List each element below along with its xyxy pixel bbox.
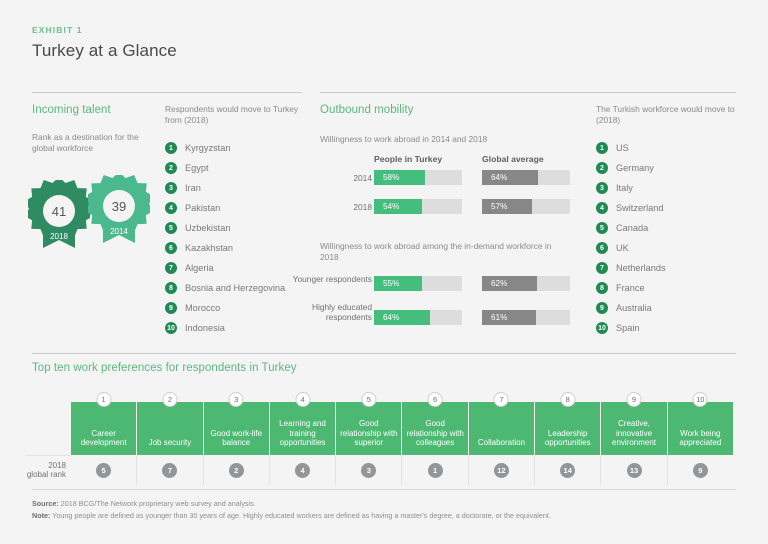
list-item: 2Egypt xyxy=(165,158,285,178)
badge-year: 2018 xyxy=(28,232,90,241)
country-name: Germany xyxy=(616,163,654,173)
list-item: 9Morocco xyxy=(165,298,285,318)
country-name: Indonesia xyxy=(185,323,225,333)
bar-row-label: 2018 xyxy=(302,202,372,212)
bar-value-label: 62% xyxy=(491,279,507,288)
rank-badge: 8 xyxy=(596,282,608,294)
preference-label: Career development xyxy=(71,429,136,455)
preference-cell: 4Learning and training opportunities xyxy=(270,402,336,455)
rank-badge: 9 xyxy=(596,302,608,314)
list-item: 5Uzbekistan xyxy=(165,218,285,238)
preference-rank-circle: 3 xyxy=(229,392,244,407)
bar-track-turkey: 54% xyxy=(374,199,462,214)
bar-track-global: 57% xyxy=(482,199,570,214)
preferences-band: 1Career development 2Job security 3Good … xyxy=(71,402,733,455)
rank-badge: 6 xyxy=(596,242,608,254)
bar-track-global: 61% xyxy=(482,310,570,325)
preference-rank-circle: 4 xyxy=(295,392,310,407)
bar-row-2014: 2014 58% 64% xyxy=(300,170,570,185)
bar-track-global: 64% xyxy=(482,170,570,185)
preference-rank-circle: 2 xyxy=(162,392,177,407)
rank-badge: 3 xyxy=(596,182,608,194)
global-rank-circle: 7 xyxy=(162,463,177,478)
bar-track-turkey: 55% xyxy=(374,276,462,291)
respondents-to-turkey-list: 1Kyrgyzstan 2Egypt 3Iran 4Pakistan 5Uzbe… xyxy=(165,138,285,338)
rank-badge: 2 xyxy=(596,162,608,174)
bar-row-younger-respondents: Younger respondents 55% 62% xyxy=(300,276,570,291)
bar-row-label: Younger respondents xyxy=(288,274,372,284)
preference-cell: 3Good work-life balance xyxy=(204,402,270,455)
respondents-to-turkey-heading: Respondents would move to Turkey from (2… xyxy=(165,104,305,126)
global-rank-circle: 2 xyxy=(229,463,244,478)
country-name: Kazakhstan xyxy=(185,243,233,253)
badge-rank-value: 41 xyxy=(43,195,75,227)
rank-badge: 7 xyxy=(596,262,608,274)
global-rank-circle: 14 xyxy=(560,463,575,478)
list-item: 6UK xyxy=(596,238,666,258)
country-name: Uzbekistan xyxy=(185,223,230,233)
incoming-talent-subheading: Rank as a destination for the global wor… xyxy=(32,132,142,154)
bar-value-label: 54% xyxy=(383,202,399,211)
preference-rank-circle: 8 xyxy=(560,392,575,407)
outbound-chart2-subheading: Willingness to work abroad among the in-… xyxy=(320,241,570,263)
rank-badge: 5 xyxy=(165,222,177,234)
global-rank-cell: 9 xyxy=(668,455,733,485)
country-name: Bosnia and Herzegovina xyxy=(185,283,285,293)
country-name: Switzerland xyxy=(616,203,664,213)
global-rank-circle: 13 xyxy=(627,463,642,478)
country-name: Kyrgyzstan xyxy=(185,143,230,153)
country-name: Pakistan xyxy=(185,203,220,213)
rank-badge: 10 xyxy=(165,322,177,334)
preference-cell: 8Leadership opportunities xyxy=(535,402,601,455)
global-rank-cell: 2 xyxy=(204,455,270,485)
preference-label: Good relationship with colleagues xyxy=(402,419,467,455)
preference-label: Collaboration xyxy=(475,438,528,455)
preference-cell: 10Work being appreciated xyxy=(668,402,733,455)
list-item: 1Kyrgyzstan xyxy=(165,138,285,158)
bar-fill-global: 62% xyxy=(482,276,537,291)
global-rank-circle: 3 xyxy=(361,463,376,478)
global-rank-cell: 5 xyxy=(71,455,137,485)
exhibit-page: EXHIBIT 1 Turkey at a Glance Incoming ta… xyxy=(0,0,768,544)
preference-rank-circle: 5 xyxy=(361,392,376,407)
preference-label: Good relationship with superior xyxy=(336,419,401,455)
list-item: 6Kazakhstan xyxy=(165,238,285,258)
preference-cell: 6Good relationship with colleagues xyxy=(402,402,468,455)
bar-column-header-global: Global average xyxy=(482,154,544,164)
preference-rank-circle: 6 xyxy=(428,392,443,407)
badge-year: 2014 xyxy=(88,227,150,236)
bar-row-2018: 2018 54% 57% xyxy=(300,199,570,214)
bar-fill-turkey: 55% xyxy=(374,276,422,291)
country-name: Australia xyxy=(616,303,652,313)
definition-note: Note: Young people are defined as younge… xyxy=(32,511,551,521)
bar-row-highly-educated-respondents: Highly educated respondents 64% 61% xyxy=(300,310,570,325)
bar-value-label: 57% xyxy=(491,202,507,211)
preference-rank-circle: 1 xyxy=(96,392,111,407)
bar-value-label: 61% xyxy=(491,313,507,322)
list-item: 8Bosnia and Herzegovina xyxy=(165,278,285,298)
bar-column-header-turkey: People in Turkey xyxy=(374,154,442,164)
bar-track-global: 62% xyxy=(482,276,570,291)
global-rank-cell: 14 xyxy=(535,455,601,485)
global-rank-cell: 1 xyxy=(402,455,468,485)
list-item: 5Canada xyxy=(596,218,666,238)
divider-footnotes xyxy=(32,489,736,490)
rank-badge: 3 xyxy=(165,182,177,194)
country-name: Spain xyxy=(616,323,640,333)
preference-rank-circle: 7 xyxy=(494,392,509,407)
rank-badge-2014: 39 2014 xyxy=(88,175,150,245)
list-item: 7Algeria xyxy=(165,258,285,278)
rank-badge: 2 xyxy=(165,162,177,174)
rank-badge: 5 xyxy=(596,222,608,234)
country-name: UK xyxy=(616,243,629,253)
country-name: France xyxy=(616,283,645,293)
rank-badge: 10 xyxy=(596,322,608,334)
global-rank-cell: 12 xyxy=(469,455,535,485)
country-name: Netherlands xyxy=(616,263,666,273)
rank-badge-2018: 41 2018 xyxy=(28,180,90,250)
bar-value-label: 64% xyxy=(383,313,399,322)
badge-rank-value: 39 xyxy=(103,190,135,222)
country-name: Egypt xyxy=(185,163,209,173)
bar-fill-global: 64% xyxy=(482,170,538,185)
bar-value-label: 64% xyxy=(491,173,507,182)
section-heading-outbound-mobility: Outbound mobility xyxy=(320,104,414,116)
country-name: Iran xyxy=(185,183,201,193)
preference-label: Leadership opportunities xyxy=(535,429,600,455)
preference-cell: 2Job security xyxy=(137,402,203,455)
divider-top-right xyxy=(320,92,736,93)
global-rank-cell: 13 xyxy=(601,455,667,485)
divider-top-left xyxy=(32,92,302,93)
page-title: Turkey at a Glance xyxy=(32,41,177,61)
global-rank-circle: 1 xyxy=(428,463,443,478)
rank-badge: 4 xyxy=(596,202,608,214)
rank-badge: 1 xyxy=(596,142,608,154)
note-label: Note: xyxy=(32,511,50,520)
rank-badge: 7 xyxy=(165,262,177,274)
preference-label: Learning and training opportunities xyxy=(270,419,335,455)
country-name: Italy xyxy=(616,183,633,193)
list-item: 8France xyxy=(596,278,666,298)
global-rank-circle: 9 xyxy=(693,463,708,478)
rank-badge: 1 xyxy=(165,142,177,154)
preference-label: Creative, innovative environment xyxy=(601,419,666,455)
bar-fill-turkey: 64% xyxy=(374,310,430,325)
preference-rank-circle: 9 xyxy=(627,392,642,407)
list-item: 3Italy xyxy=(596,178,666,198)
rank-row-label: 2018 global rank xyxy=(26,455,66,485)
preference-cell: 1Career development xyxy=(71,402,137,455)
section-heading-incoming-talent: Incoming talent xyxy=(32,104,111,116)
rank-badge: 4 xyxy=(165,202,177,214)
list-item: 1US xyxy=(596,138,666,158)
list-item: 10Indonesia xyxy=(165,318,285,338)
preference-label: Work being appreciated xyxy=(668,429,733,455)
global-rank-cell: 3 xyxy=(336,455,402,485)
list-item: 10Spain xyxy=(596,318,666,338)
global-rank-circle: 5 xyxy=(96,463,111,478)
list-item: 4Switzerland xyxy=(596,198,666,218)
bar-fill-turkey: 58% xyxy=(374,170,425,185)
preference-label: Job security xyxy=(146,438,195,455)
global-rank-cell: 7 xyxy=(137,455,203,485)
bar-value-label: 55% xyxy=(383,279,399,288)
preference-cell: 7Collaboration xyxy=(469,402,535,455)
list-item: 4Pakistan xyxy=(165,198,285,218)
bar-row-label: Highly educated respondents xyxy=(288,302,372,322)
country-name: Morocco xyxy=(185,303,220,313)
preference-label: Good work-life balance xyxy=(204,429,269,455)
list-item: 3Iran xyxy=(165,178,285,198)
rank-badge: 8 xyxy=(165,282,177,294)
country-name: Canada xyxy=(616,223,648,233)
outbound-chart1-subheading: Willingness to work abroad in 2014 and 2… xyxy=(320,134,580,145)
preference-cell: 9Creative, innovative environment xyxy=(601,402,667,455)
section-heading-work-preferences: Top ten work preferences for respondents… xyxy=(32,362,297,374)
bar-fill-global: 61% xyxy=(482,310,536,325)
country-name: Algeria xyxy=(185,263,214,273)
country-name: US xyxy=(616,143,629,153)
global-rank-circle: 4 xyxy=(295,463,310,478)
preference-cell: 5Good relationship with superior xyxy=(336,402,402,455)
bar-track-turkey: 58% xyxy=(374,170,462,185)
list-item: 7Netherlands xyxy=(596,258,666,278)
global-rank-row: 5 7 2 4 3 1 12 14 13 9 xyxy=(71,455,733,485)
bar-row-label: 2014 xyxy=(302,173,372,183)
divider-bottom xyxy=(32,353,736,354)
list-item: 2Germany xyxy=(596,158,666,178)
exhibit-label: EXHIBIT 1 xyxy=(32,25,83,35)
list-item: 9Australia xyxy=(596,298,666,318)
turkish-workforce-list: 1US 2Germany 3Italy 4Switzerland 5Canada… xyxy=(596,138,666,338)
bar-track-turkey: 64% xyxy=(374,310,462,325)
note-text: Young people are defined as younger than… xyxy=(50,511,550,520)
turkish-workforce-heading: The Turkish workforce would move to (201… xyxy=(596,104,736,126)
bar-value-label: 58% xyxy=(383,173,399,182)
rank-badge: 6 xyxy=(165,242,177,254)
rank-badge: 9 xyxy=(165,302,177,314)
source-label: Source: xyxy=(32,499,59,508)
source-text: 2018 BCG/The Network proprietary web sur… xyxy=(59,499,256,508)
source-note: Source: 2018 BCG/The Network proprietary… xyxy=(32,499,256,509)
global-rank-circle: 12 xyxy=(494,463,509,478)
global-rank-cell: 4 xyxy=(270,455,336,485)
bar-fill-turkey: 54% xyxy=(374,199,422,214)
bar-fill-global: 57% xyxy=(482,199,532,214)
preference-rank-circle: 10 xyxy=(693,392,708,407)
